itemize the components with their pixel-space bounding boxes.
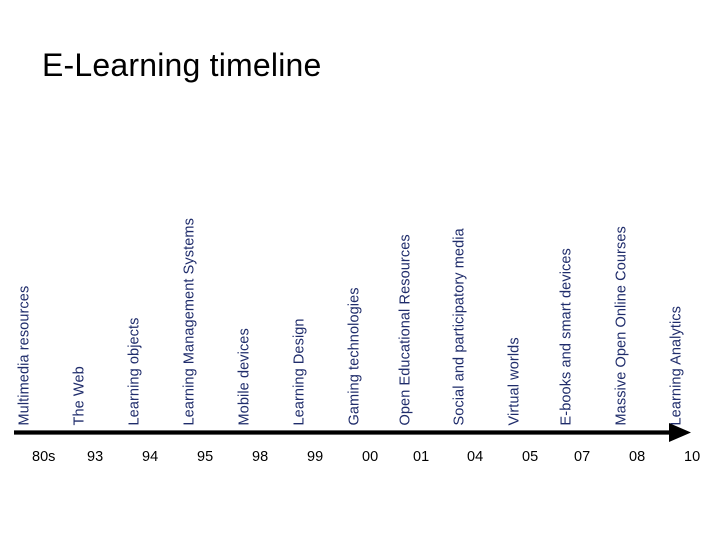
year-label: 93 [87, 450, 103, 465]
page-title: E-Learning timeline [42, 48, 322, 83]
year-label: 00 [362, 450, 378, 465]
year-label: 05 [522, 450, 538, 465]
year-label: 01 [413, 450, 429, 465]
event-label: Social and participatory media [453, 228, 468, 425]
slide-canvas: E-Learning timeline Multimedia resources… [0, 0, 720, 540]
event-label: Open Educational Resources [399, 234, 414, 425]
event-label: E-books and smart devices [560, 248, 575, 425]
event-label: Learning Analytics [670, 306, 685, 426]
year-label: 07 [574, 450, 590, 465]
year-label: 08 [629, 450, 645, 465]
event-label: Learning Management Systems [183, 218, 198, 425]
year-label: 99 [307, 450, 323, 465]
year-label: 94 [142, 450, 158, 465]
event-label: Mobile devices [238, 328, 253, 425]
year-label: 10 [684, 450, 700, 465]
event-label: Multimedia resources [18, 285, 33, 425]
event-label-group: Multimedia resourcesThe WebLearning obje… [14, 100, 704, 425]
year-label: 95 [197, 450, 213, 465]
year-label-group: 80s939495989900010405070810 [14, 450, 704, 476]
timeline-axis [14, 412, 692, 454]
year-label: 98 [252, 450, 268, 465]
event-label: Learning objects [128, 317, 143, 425]
timeline-arrow-icon [14, 412, 692, 454]
year-label: 04 [467, 450, 483, 465]
event-label: Learning Design [293, 318, 308, 425]
year-label: 80s [32, 450, 55, 465]
event-label: Massive Open Online Courses [615, 226, 630, 425]
event-label: Gaming technologies [348, 287, 363, 425]
